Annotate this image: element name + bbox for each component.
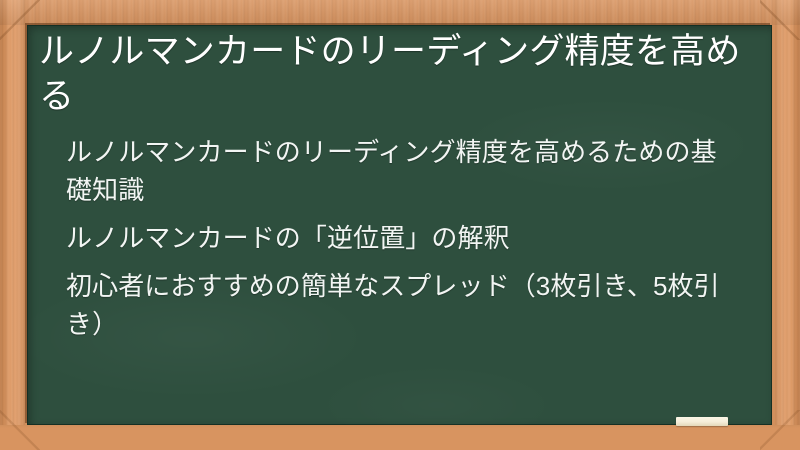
blackboard-slide: ルノルマンカードのリーディング精度を高める ルノルマンカードのリーディング精度を… [0, 0, 800, 450]
chalk-stick-icon [676, 417, 728, 426]
slide-content: ルノルマンカードのリーディング精度を高める ルノルマンカードのリーディング精度を… [27, 25, 772, 425]
frame-bottom-rail [0, 425, 800, 450]
list-item: ルノルマンカードのリーディング精度を高めるための基礎知識 [66, 133, 720, 209]
frame-top-rail [0, 0, 800, 25]
list-item: ルノルマンカードの「逆位置」の解釈 [66, 219, 720, 257]
list-item: 初心者におすすめの簡単なスプレッド（3枚引き、5枚引き） [66, 267, 720, 343]
chalkboard-surface: ルノルマンカードのリーディング精度を高める ルノルマンカードのリーディング精度を… [27, 25, 772, 425]
slide-title: ルノルマンカードのリーディング精度を高める [33, 29, 754, 119]
slide-bullet-list: ルノルマンカードのリーディング精度を高めるための基礎知識 ルノルマンカードの「逆… [33, 133, 754, 343]
